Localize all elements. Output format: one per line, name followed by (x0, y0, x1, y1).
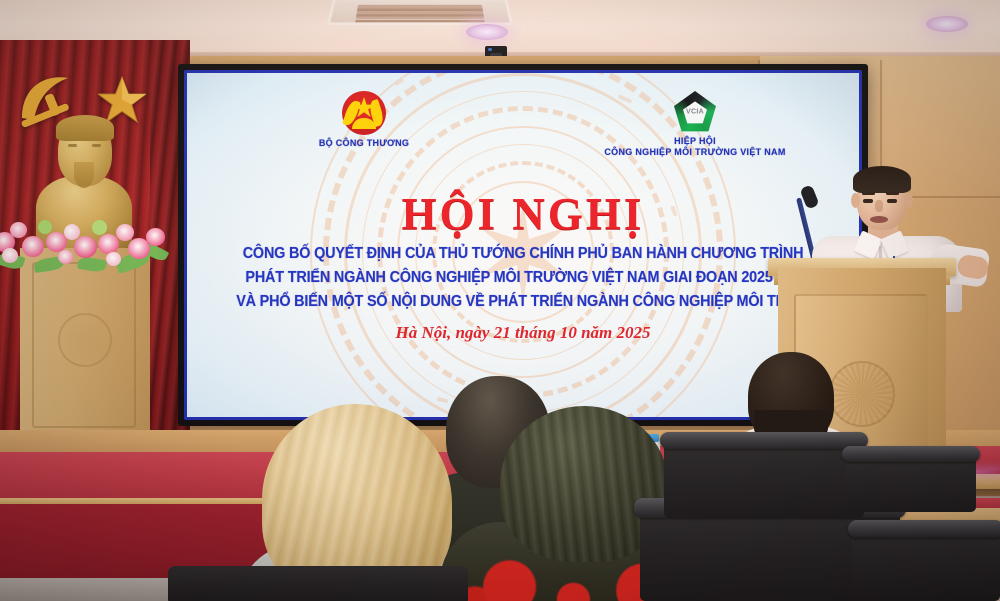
chair-back (852, 528, 1000, 601)
speaker-brow (886, 192, 899, 195)
logo-caption-moit: BỘ CÔNG THƯƠNG (259, 138, 469, 149)
speaker-mouth (870, 216, 888, 223)
slide-logo-row: BỘ CÔNG THƯƠNG VCIA HIỆP HỘI CÔNG NGHIỆP… (187, 91, 859, 177)
bust-pedestal (20, 248, 150, 438)
vcia-mark-text: VCIA (686, 109, 704, 116)
speaker-hair (853, 166, 911, 193)
lotus-flower-arrangement (0, 214, 172, 276)
chair-headrest (660, 432, 868, 449)
slide-venue-date: Hà Nội, ngày 21 tháng 10 năm 2025 (187, 323, 859, 343)
speaker-ear (851, 193, 860, 208)
slide-title: HỘI NGHỊ (187, 188, 859, 240)
vcia-logo-icon: VCIA (674, 91, 716, 133)
logo-caption-vcia-line2: CÔNG NGHIỆP MÔI TRƯỜNG VIỆT NAM (555, 147, 835, 158)
chair-back (664, 438, 864, 518)
gold-star-icon (98, 76, 146, 124)
chair-headrest (842, 446, 980, 462)
logo-block-moit: BỘ CÔNG THƯƠNG (259, 91, 469, 149)
speaker-brow (862, 192, 875, 195)
logo-caption-vcia-line1: HIỆP HỘI (555, 136, 835, 147)
downlight-icon (466, 24, 508, 40)
slide-subtitle-line-1: CÔNG BỐ QUYẾT ĐỊNH CỦA THỦ TƯỚNG CHÍNH P… (211, 245, 836, 263)
speaker-ear (904, 193, 913, 208)
logo-block-vcia: VCIA HIỆP HỘI CÔNG NGHIỆP MÔI TRƯỜNG VIỆ… (555, 91, 835, 159)
speaker-eye (887, 199, 897, 203)
chair-headrest (848, 520, 1000, 538)
speaker-nose (875, 200, 883, 212)
downlight-icon (926, 16, 968, 32)
vietnam-national-emblem-icon (342, 91, 386, 135)
slide-subtitle-line-3: VÀ PHỔ BIẾN MỘT SỐ NỘI DUNG VỀ PHÁT TRIỂ… (211, 293, 836, 311)
ac-vent-icon (327, 0, 514, 25)
chair-back (168, 566, 468, 601)
conference-photo: BỘ CÔNG THƯƠNG VCIA HIỆP HỘI CÔNG NGHIỆP… (0, 0, 1000, 601)
speaker-eye (863, 199, 873, 203)
slide-subtitle-line-2: PHÁT TRIỂN NGÀNH CÔNG NGHIỆP MÔI TRƯỜNG … (211, 269, 836, 287)
